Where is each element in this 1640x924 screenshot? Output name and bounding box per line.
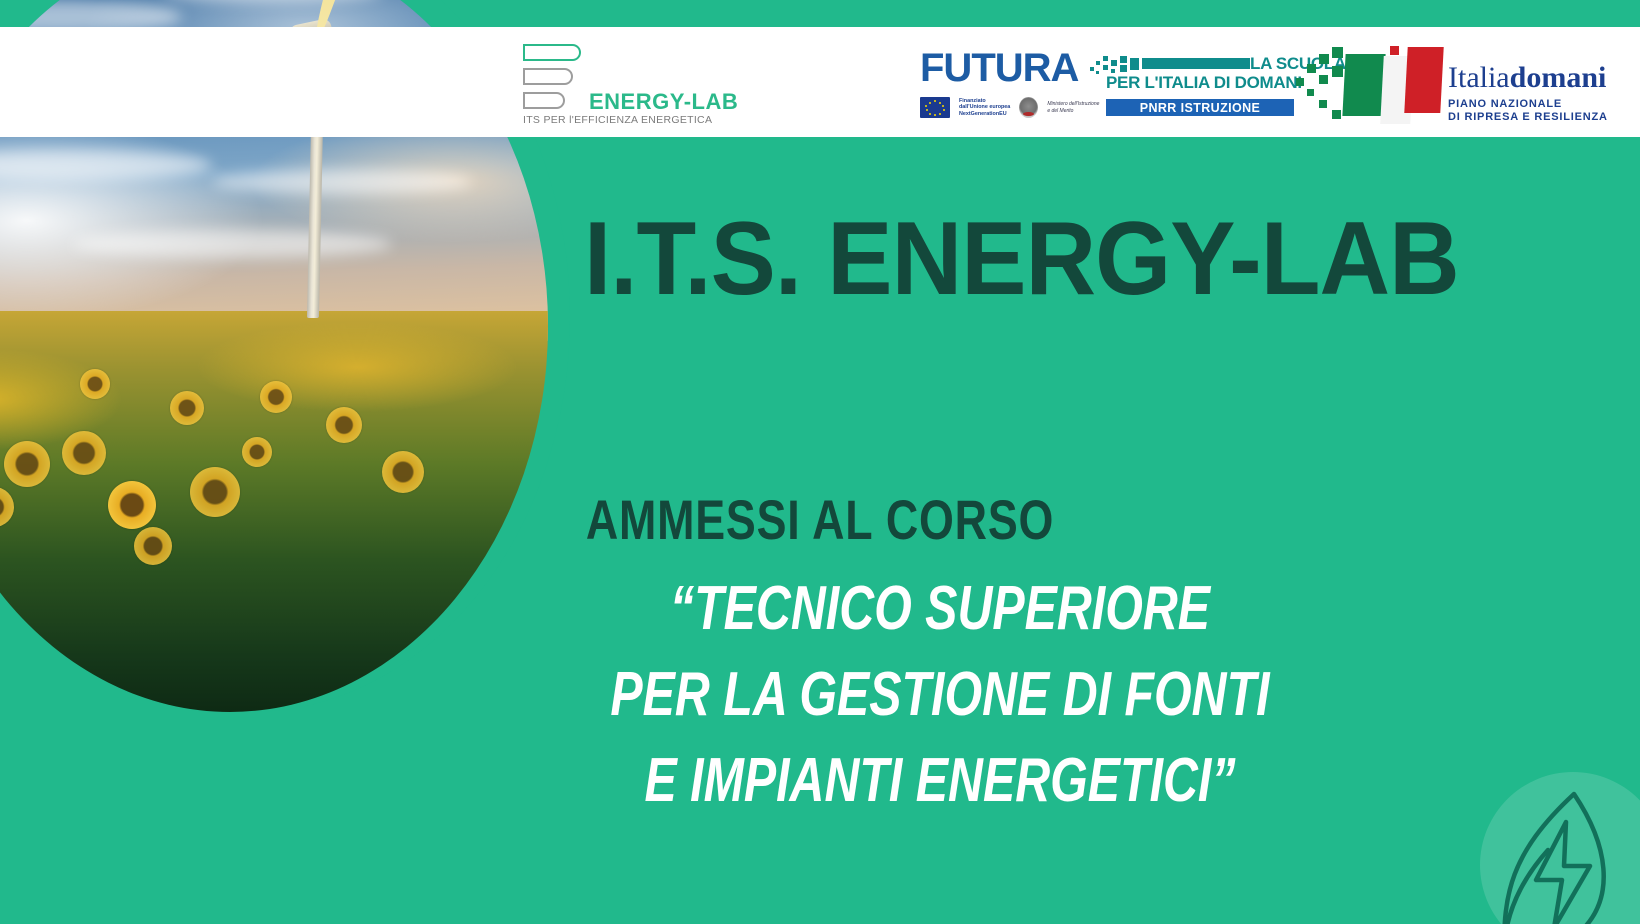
kicker-heading: AMMESSI AL CORSO: [164, 487, 1476, 552]
italia-domani-logo: Italiadomani PIANO NAZIONALE DI RIPRESA …: [1296, 42, 1546, 132]
leaf-lightning-bolt-icon: [1474, 776, 1640, 924]
italia-domani-wordmark: Italiadomani: [1448, 62, 1606, 94]
italia-word: Italia: [1448, 61, 1510, 94]
italia-domani-sub-line-2: DI RIPRESA E RESILIENZA: [1448, 111, 1608, 124]
page-title: I.T.S. ENERGY-LAB: [584, 203, 1459, 315]
eu-funding-line-2: dall'Unione europea: [959, 104, 1010, 110]
energy-lab-logo: ENERGY-LAB ITS PER l'EFFICIENZA ENERGETI…: [523, 40, 703, 130]
course-name: “TECNICO SUPERIORE PER LA GESTIONE DI FO…: [394, 566, 1486, 824]
italia-domani-sub-line-1: PIANO NAZIONALE: [1448, 98, 1608, 111]
futura-logo: FUTURA Finanziato dall'Unione europea Ne…: [920, 48, 1090, 128]
energy-lab-tagline: ITS PER l'EFFICIENZA ENERGETICA: [523, 114, 712, 126]
course-line-2: PER LA GESTIONE DI FONTI: [394, 652, 1486, 738]
course-line-3: E IMPIANTI ENERGETICI”: [394, 738, 1486, 824]
eu-funding-line-3: NextGenerationEU: [959, 111, 1010, 117]
italia-domani-subtitle: PIANO NAZIONALE DI RIPRESA E RESILIENZA: [1448, 98, 1608, 124]
domani-word: domani: [1510, 61, 1607, 94]
course-line-1: “TECNICO SUPERIORE: [394, 566, 1486, 652]
scuola-italia-domani-logo: LA SCUOLA PER L'ITALIA DI DOMANI PNRR IS…: [1090, 54, 1290, 126]
futura-wordmark: FUTURA: [920, 48, 1090, 88]
scuola-line-2: PER L'ITALIA DI DOMANI: [1106, 73, 1302, 92]
pixel-dots-icon: [1090, 55, 1142, 73]
pnrr-badge: PNRR ISTRUZIONE: [1106, 99, 1294, 116]
teal-rule: [1142, 58, 1250, 69]
italian-flag-pixel-icon: [1296, 42, 1436, 127]
eu-funding-text: Finanziato dall'Unione europea NextGener…: [959, 98, 1010, 117]
italian-republic-emblem-icon: [1019, 97, 1038, 118]
energy-lab-name: ENERGY-LAB: [589, 89, 738, 115]
energy-lab-mark-icon: [523, 44, 583, 114]
poster-canvas: ENERGY-LAB ITS PER l'EFFICIENZA ENERGETI…: [0, 0, 1640, 924]
eu-flag-icon: [920, 97, 950, 118]
